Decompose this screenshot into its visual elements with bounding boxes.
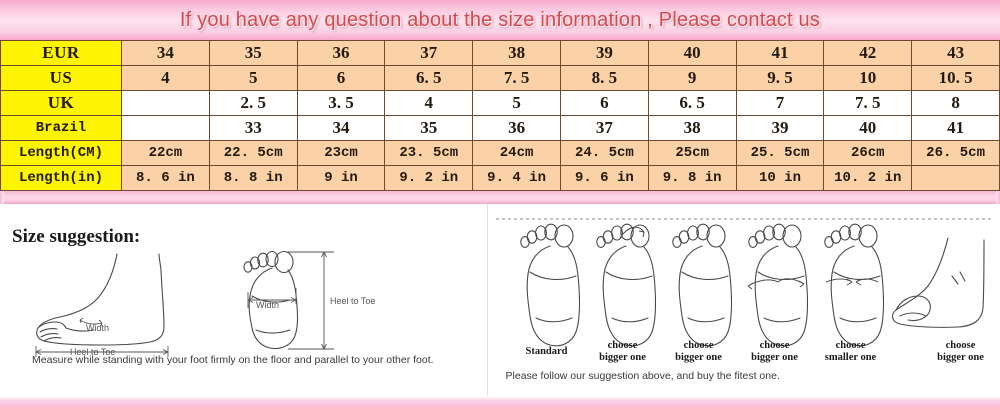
size-chart-page: If you have any question about the size … (0, 0, 1000, 407)
table-cell: 24. 5cm (560, 141, 648, 166)
table-cell: 6 (560, 91, 648, 116)
top-foot-measure-diagram: Width Heel to Toe (212, 246, 382, 358)
table-cell: 4 (385, 91, 473, 116)
table-cell: 37 (385, 41, 473, 66)
table-cell: 36 (297, 41, 385, 66)
table-cell: 5 (473, 91, 561, 116)
table-cell: 9. 5 (736, 66, 824, 91)
table-cell: 22cm (122, 141, 210, 166)
side-foot-measure-diagram: Width Heel to Toe (22, 252, 202, 357)
table-cell: 7. 5 (473, 66, 561, 91)
table-cell: 37 (560, 116, 648, 141)
table-cell: 9 in (297, 166, 385, 191)
table-cell: 39 (736, 116, 824, 141)
table-cell: 9. 4 in (473, 166, 561, 191)
table-cell: 3. 5 (297, 91, 385, 116)
table-cell: 38 (648, 116, 736, 141)
foot-type-caption: choosebigger one (906, 340, 1000, 364)
table-cell: 8. 6 in (122, 166, 210, 191)
table-cell: 7. 5 (824, 91, 912, 116)
foot-types-panel: Standardchoosebigger onechoosebigger one… (487, 204, 1000, 396)
table-cell: 10. 5 (912, 66, 1000, 91)
row-label: Length(in) (1, 166, 122, 191)
table-cell: 10. 2 in (824, 166, 912, 191)
table-cell (912, 166, 1000, 191)
table-cell (122, 91, 210, 116)
table-cell: 5 (209, 66, 297, 91)
table-cell: 25. 5cm (736, 141, 824, 166)
table-cell: 42 (824, 41, 912, 66)
table-row: Length(in)8. 6 in8. 8 in9 in9. 2 in9. 4 … (1, 166, 1000, 191)
header-banner: If you have any question about the size … (0, 0, 1000, 40)
table-cell: 8. 5 (560, 66, 648, 91)
table-cell: 9 (648, 66, 736, 91)
row-label: Length(CM) (1, 141, 122, 166)
foot-side-curled-icon (886, 220, 996, 356)
table-cell: 26. 5cm (912, 141, 1000, 166)
lower-section: Size suggestion: Width (0, 204, 1000, 396)
table-cell: 35 (385, 116, 473, 141)
table-cell: 36 (473, 116, 561, 141)
follow-suggestion-note: Please follow our suggestion above, and … (506, 370, 780, 382)
table-cell: 23cm (297, 141, 385, 166)
table-row: Brazil333435363738394041 (1, 116, 1000, 141)
row-label: UK (1, 91, 122, 116)
table-cell (122, 116, 210, 141)
table-cell: 9. 2 in (385, 166, 473, 191)
table-cell: 43 (912, 41, 1000, 66)
table-cell: 41 (912, 116, 1000, 141)
table-row: EUR34353637383940414243 (1, 41, 1000, 66)
table-cell: 9. 6 in (560, 166, 648, 191)
table-cell: 6 (297, 66, 385, 91)
top-heel-to-toe-label: Heel to Toe (330, 296, 375, 306)
table-cell: 8. 8 in (209, 166, 297, 191)
table-cell: 41 (736, 41, 824, 66)
row-label: EUR (1, 41, 122, 66)
table-cell: 40 (648, 41, 736, 66)
row-label: US (1, 66, 122, 91)
table-cell: 4 (122, 66, 210, 91)
table-cell: 38 (473, 41, 561, 66)
table-cell: 10 (824, 66, 912, 91)
size-suggestion-panel: Size suggestion: Width (0, 204, 487, 396)
side-width-label: Width (86, 323, 109, 333)
table-cell: 9. 8 in (648, 166, 736, 191)
table-cell: 7 (736, 91, 824, 116)
measure-instruction-note: Measure while standing with your foot fi… (32, 354, 434, 366)
foot-type-caption-line2: bigger one (906, 352, 1000, 364)
table-cell: 34 (297, 116, 385, 141)
table-row: Length(CM)22cm22. 5cm23cm23. 5cm24cm24. … (1, 141, 1000, 166)
table-cell: 35 (209, 41, 297, 66)
table-cell: 22. 5cm (209, 141, 297, 166)
table-cell: 6. 5 (385, 66, 473, 91)
table-cell: 33 (209, 116, 297, 141)
table-cell: 2. 5 (209, 91, 297, 116)
table-row: US4566. 57. 58. 599. 51010. 5 (1, 66, 1000, 91)
table-cell: 39 (560, 41, 648, 66)
size-table: EUR34353637383940414243US4566. 57. 58. 5… (0, 40, 1000, 191)
table-cell: 23. 5cm (385, 141, 473, 166)
table-cell: 34 (122, 41, 210, 66)
table-cell: 6. 5 (648, 91, 736, 116)
table-row: UK2. 53. 54566. 577. 58 (1, 91, 1000, 116)
bottom-pink-band (0, 396, 1000, 407)
table-cell: 10 in (736, 166, 824, 191)
table-cell: 24cm (473, 141, 561, 166)
section-divider (0, 191, 1000, 204)
table-cell: 40 (824, 116, 912, 141)
row-label: Brazil (1, 116, 122, 141)
table-cell: 26cm (824, 141, 912, 166)
size-table-container: EUR34353637383940414243US4566. 57. 58. 5… (0, 40, 1000, 191)
foot-type-caption-line1: choose (906, 340, 1000, 352)
table-cell: 8 (912, 91, 1000, 116)
size-suggestion-title: Size suggestion: (12, 226, 140, 248)
top-width-label: Width (256, 300, 279, 310)
header-banner-text: If you have any question about the size … (180, 9, 820, 32)
table-cell: 25cm (648, 141, 736, 166)
